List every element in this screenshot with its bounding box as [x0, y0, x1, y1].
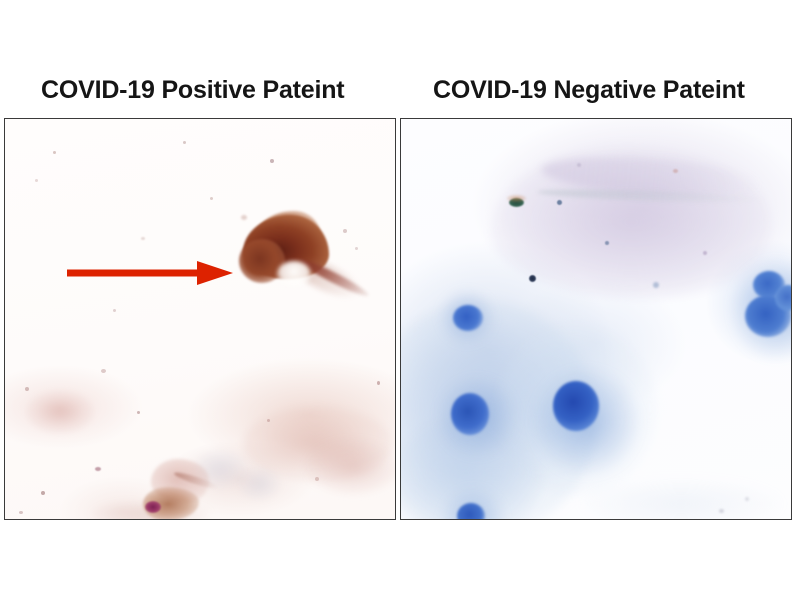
nucleus: [453, 305, 483, 331]
debris-speck: [719, 509, 724, 513]
debris-speck: [210, 197, 213, 200]
cell-notch: [277, 261, 311, 287]
debris-region: [305, 439, 395, 495]
micrograph-panel-negative: [400, 118, 792, 520]
debris-speck: [25, 387, 29, 391]
panel-title-negative: COVID-19 Negative Pateint: [433, 78, 745, 103]
nucleus: [451, 393, 489, 435]
lower-debris-cluster: [125, 459, 245, 519]
debris-speck: [377, 381, 380, 385]
nucleus: [553, 381, 599, 431]
debris-speck: [141, 237, 145, 240]
red-arrow-annotation: [65, 259, 235, 287]
slide-field-negative: [401, 119, 791, 519]
micrograph-panel-positive: [4, 118, 396, 520]
debris-magenta-spot: [145, 501, 161, 513]
slide-field-positive: [5, 119, 395, 519]
dark-granule: [557, 200, 562, 205]
dark-granule: [703, 251, 707, 255]
dark-granule: [577, 163, 581, 167]
debris-speck: [35, 179, 38, 182]
dab-positive-cell: [237, 211, 357, 297]
debris-speck: [183, 141, 186, 144]
debris-speck: [137, 411, 140, 414]
debris-speck: [95, 467, 101, 471]
dark-granule: [605, 241, 609, 245]
panel-title-positive: COVID-19 Positive Pateint: [41, 78, 344, 103]
debris-speck: [745, 497, 749, 501]
debris-speck: [41, 491, 45, 495]
background-haze: [581, 479, 781, 519]
dark-granule: [653, 282, 659, 288]
debris-speck: [101, 369, 106, 373]
dark-granule: [529, 275, 536, 282]
debris-speck: [270, 159, 274, 163]
debris-speck: [53, 151, 56, 154]
figure-root: COVID-19 Positive Pateint COVID-19 Negat…: [0, 0, 800, 600]
debris-speck: [19, 511, 23, 514]
dark-granule: [673, 169, 678, 173]
arrow-head: [197, 261, 233, 285]
debris-region: [27, 391, 93, 433]
teal-granule-rim: [507, 195, 526, 202]
debris-speck: [113, 309, 116, 312]
